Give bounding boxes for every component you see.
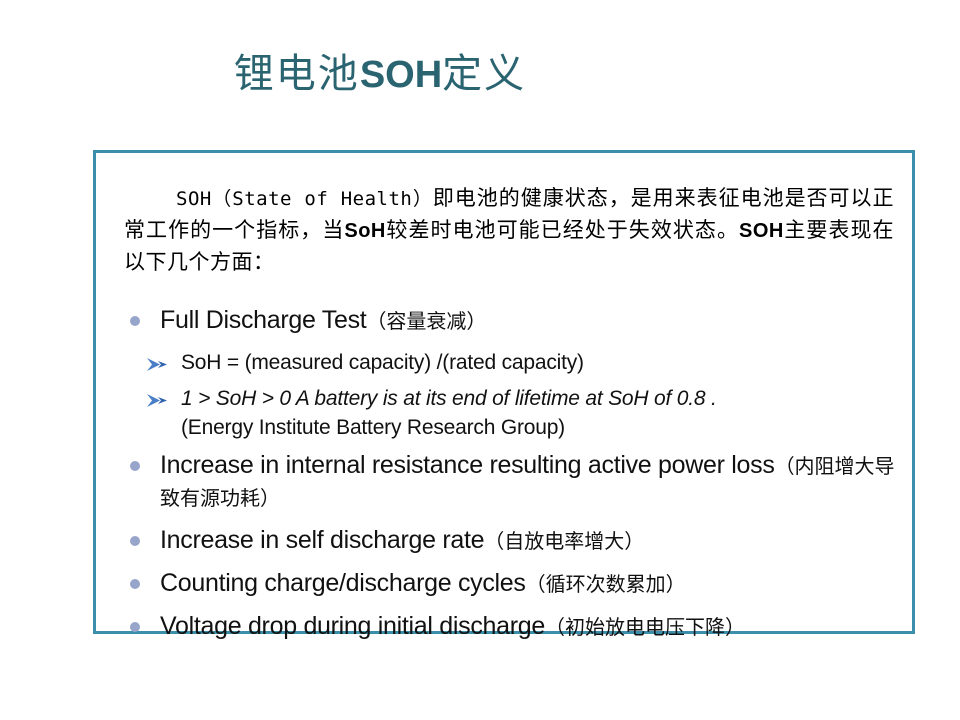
page-title-cn-prefix: 锂电池 [234,51,360,97]
list-item: Voltage drop during initial discharge（初始… [124,611,914,643]
list-item: Increase in self discharge rate（自放电率增大） [124,525,914,557]
bullet-row: Full Discharge Test（容量衰减） [124,305,914,337]
bullet-text: Voltage drop during initial discharge（初始… [160,611,914,643]
bullet-text: Counting charge/discharge cycles（循环次数累加） [160,568,914,600]
intro-inline-term-2: SOH [739,220,784,242]
bullet-text-en: Voltage drop during initial discharge [160,612,545,640]
bullet-text: Increase in self discharge rate（自放电率增大） [160,525,914,557]
page-title-latin: SOH [360,54,442,96]
bullet-dot-icon [130,536,140,546]
bullet-text-en: Full Discharge Test [160,306,366,334]
intro-paragraph: SOH（State of Health）即电池的健康状态，是用来表征电池是否可以… [124,183,894,278]
bullet-text: Full Discharge Test（容量衰减） [160,305,914,337]
bullet-text-cn: （自放电率增大） [484,529,644,553]
sub-bullet-row: SoH = (measured capacity) /(rated capaci… [124,348,914,377]
bullet-text-cn: （容量衰减） [366,309,486,333]
intro-lead-parenthetical: （State of Health） [212,188,433,210]
bullet-dot-icon [130,622,140,632]
content-frame: SOH（State of Health）即电池的健康状态，是用来表征电池是否可以… [93,150,915,634]
intro-lead-term: SOH [176,188,212,210]
intro-inline-term-1: SoH [344,220,386,242]
intro-body-2: 较差时电池可能已经处于失效状态。 [386,218,739,242]
bullet-dot-icon [130,461,140,471]
list-item: Increase in internal resistance resultin… [124,450,914,514]
arrow-right-bullet-icon [146,391,168,411]
bullet-text-cn: （循环次数累加） [526,572,686,596]
sub-bullet-continuation: (Energy Institute Battery Research Group… [181,413,914,442]
sub-bullet-text-main: 1 > SoH > 0 A battery is at its end of l… [181,387,717,410]
bullet-text: Increase in internal resistance resultin… [160,450,914,514]
bullet-text-cn: （初始放电电压下降） [545,615,745,639]
page-title: 锂电池SOH定义 [0,48,760,101]
bullet-dot-icon [130,316,140,326]
bullet-dot-icon [130,579,140,589]
list-item: Counting charge/discharge cycles（循环次数累加） [124,568,914,600]
sub-bullet-text: SoH = (measured capacity) /(rated capaci… [181,348,914,377]
sub-bullet-list: SoH = (measured capacity) /(rated capaci… [124,348,914,442]
bullet-list: Full Discharge Test（容量衰减） SoH = (measure… [124,305,914,654]
sub-bullet-row: 1 > SoH > 0 A battery is at its end of l… [124,384,914,442]
arrow-right-bullet-icon [146,355,168,375]
bullet-text-en: Counting charge/discharge cycles [160,569,526,597]
bullet-text-en: Increase in internal resistance resultin… [160,451,775,479]
list-item: Full Discharge Test（容量衰减） SoH = (measure… [124,305,914,442]
bullet-text-en: Increase in self discharge rate [160,526,484,554]
sub-bullet-text: 1 > SoH > 0 A battery is at its end of l… [181,384,914,442]
page-title-cn-suffix: 定义 [442,51,526,97]
